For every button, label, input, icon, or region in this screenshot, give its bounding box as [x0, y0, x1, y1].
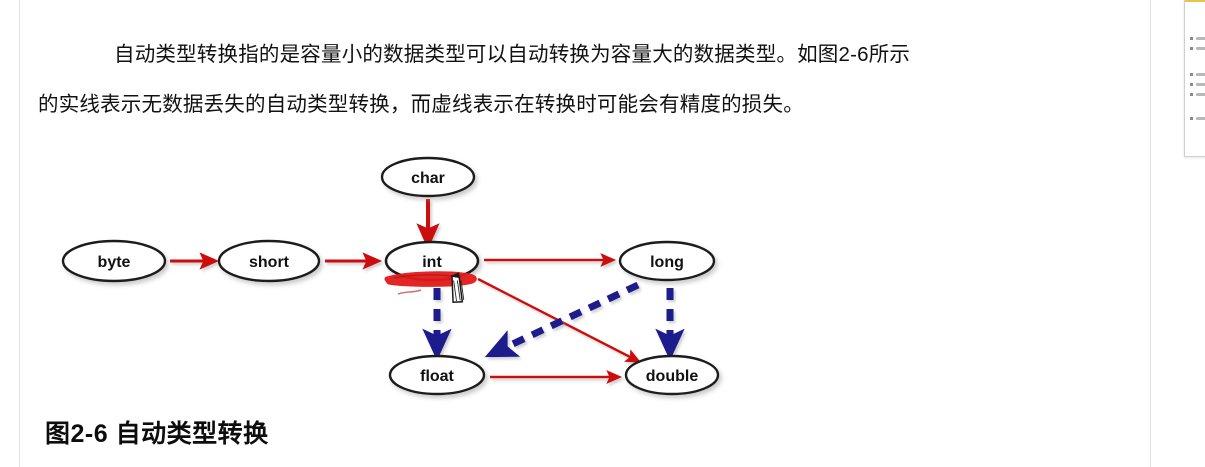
side-panel-text-2: [1196, 47, 1205, 50]
figure-type-conversion-diagram: byte short char int long: [0, 148, 780, 406]
edge-group-solid: [170, 199, 634, 377]
side-panel-text-6: [1196, 117, 1205, 120]
node-double[interactable]: double: [626, 356, 718, 394]
side-panel-text-3: [1196, 73, 1205, 76]
node-char[interactable]: char: [382, 158, 474, 196]
side-panel-text-1: [1196, 37, 1205, 40]
side-panel-accent-bar: [1185, 0, 1205, 2]
annotation-stroke-tail: [398, 290, 421, 294]
side-panel-bullet-1: [1190, 37, 1193, 40]
node-long-label: long: [650, 254, 684, 271]
side-panel-bullet-5: [1190, 93, 1193, 96]
node-byte-label: byte: [98, 254, 131, 271]
node-int-label: int: [422, 254, 442, 271]
side-panel-text-4: [1196, 83, 1205, 86]
node-char-label: char: [411, 170, 445, 187]
side-panel-text-5: [1196, 93, 1205, 96]
node-long[interactable]: long: [620, 242, 714, 280]
node-short-label: short: [249, 254, 290, 271]
diagram-svg: byte short char int long: [0, 148, 780, 406]
side-panel-bullet-3: [1190, 73, 1193, 76]
side-panel-bullet-2: [1190, 47, 1193, 50]
node-double-label: double: [646, 368, 699, 385]
document-page: 自动类型转换指的是容量小的数据类型可以自动转换为容量大的数据类型。如图2-6所示…: [0, 0, 1205, 467]
page-rule-right: [1150, 0, 1151, 467]
node-float-label: float: [420, 368, 454, 385]
body-paragraph: 自动类型转换指的是容量小的数据类型可以自动转换为容量大的数据类型。如图2-6所示…: [38, 30, 1150, 130]
side-panel-bullet-4: [1190, 83, 1193, 86]
edge-long-to-float-dashed: [500, 285, 638, 350]
figure-caption: 图2-6 自动类型转换: [45, 414, 269, 450]
paragraph-line-2: 的实线表示无数据丢失的自动类型转换，而虚线表示在转换时可能会有精度的损失。: [38, 80, 1150, 130]
side-panel-fragment[interactable]: [1184, 0, 1205, 157]
paragraph-line-1: 自动类型转换指的是容量小的数据类型可以自动转换为容量大的数据类型。如图2-6所示: [38, 30, 1150, 80]
node-byte[interactable]: byte: [63, 241, 165, 281]
node-float[interactable]: float: [390, 356, 484, 394]
node-short[interactable]: short: [219, 241, 319, 281]
side-panel-bullet-6: [1190, 117, 1193, 120]
